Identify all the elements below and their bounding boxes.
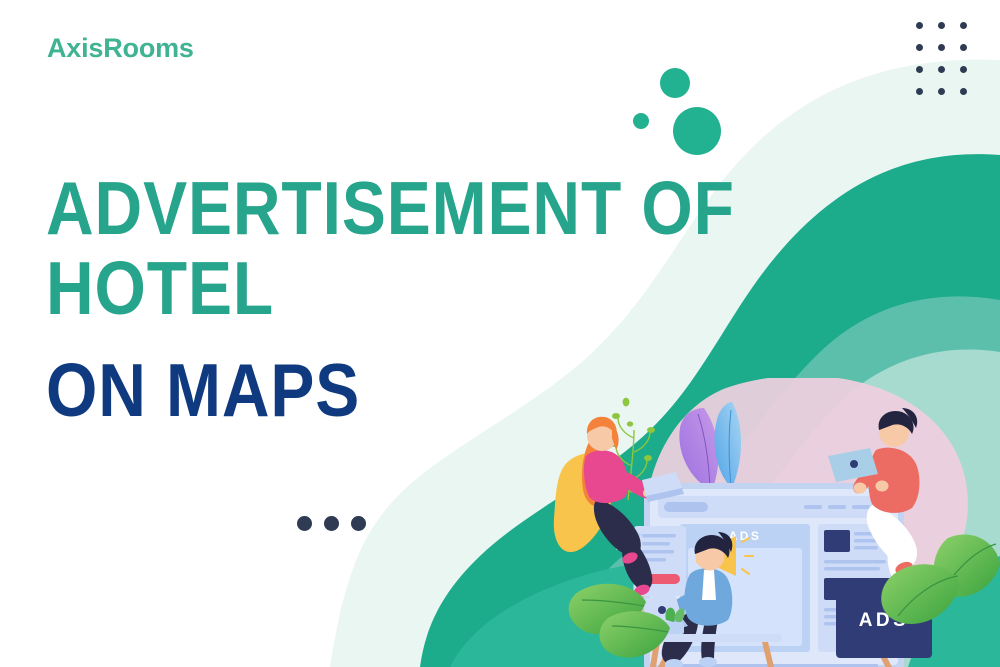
- sidebar-text-line: [854, 546, 878, 550]
- headline-line-1: ADVERTISEMENT OF: [46, 168, 609, 248]
- sidebar-text-line: [824, 560, 886, 564]
- grid-dot: [938, 44, 945, 51]
- three-dots-decoration: [297, 516, 366, 531]
- sidebar-thumb: [824, 530, 850, 552]
- toolbar-link: [828, 505, 846, 509]
- bubble-medium-icon: [660, 68, 690, 98]
- bubble-small-icon: [633, 113, 649, 129]
- brand-logo[interactable]: AxisRooms: [47, 33, 194, 64]
- toolbar-link: [804, 505, 822, 509]
- bubble-large-icon: [673, 107, 721, 155]
- grid-dot: [938, 22, 945, 29]
- grid-dot: [960, 44, 967, 51]
- grid-dot: [938, 66, 945, 73]
- grid-dot: [916, 44, 923, 51]
- sidebar-text-line: [824, 567, 880, 571]
- address-bar: [664, 502, 708, 512]
- card-text-line: [642, 534, 676, 538]
- grid-dot: [916, 88, 923, 95]
- advertisement-banner: AxisRooms ADVERTISEMENT OF HOTEL ON MAPS: [0, 0, 1000, 667]
- page-title: ADVERTISEMENT OF HOTEL ON MAPS: [46, 168, 686, 430]
- dot-grid-decoration: [908, 14, 974, 102]
- accent-dot: [324, 516, 339, 531]
- grid-dot: [916, 66, 923, 73]
- accent-dot: [351, 516, 366, 531]
- grid-dot: [960, 66, 967, 73]
- accent-dot: [297, 516, 312, 531]
- toolbar-link: [852, 505, 870, 509]
- grid-dot: [938, 88, 945, 95]
- headline-line-3: ON MAPS: [46, 350, 609, 430]
- headline-line-2: HOTEL: [46, 248, 609, 328]
- card-text-line: [642, 550, 674, 554]
- card-text-line: [642, 542, 670, 546]
- grid-dot: [960, 88, 967, 95]
- grid-dot: [960, 22, 967, 29]
- grid-dot: [916, 22, 923, 29]
